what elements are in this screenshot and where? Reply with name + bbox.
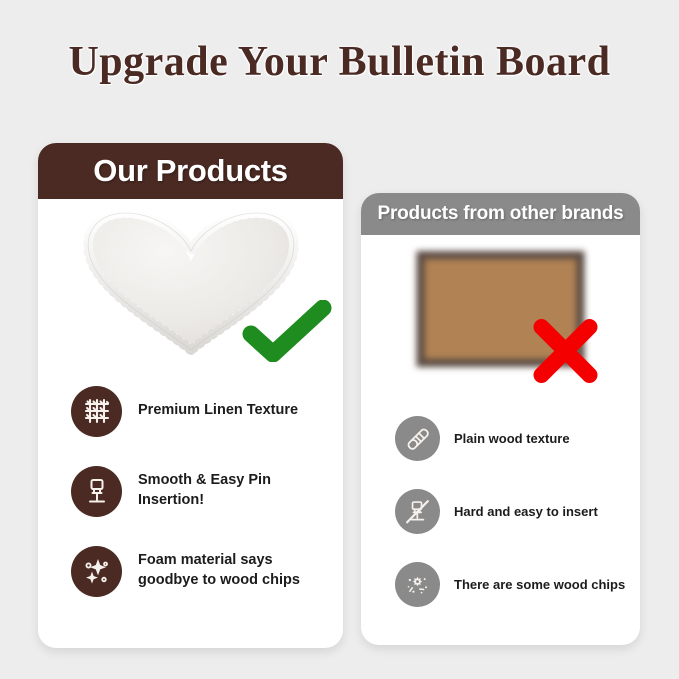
- other-brands-header-label: Products from other brands: [377, 203, 623, 225]
- other-brands-feature-list: Plain wood texture Hard and easy to inse…: [361, 402, 640, 621]
- list-item-label: Hard and easy to insert: [454, 503, 598, 521]
- our-product-image-area: [38, 199, 343, 354]
- wood-chips-icon: [395, 562, 440, 607]
- approved-check-badge: [241, 300, 335, 362]
- our-products-header-label: Our Products: [93, 153, 287, 189]
- check-icon: [241, 300, 335, 362]
- linen-weave-icon: [71, 386, 122, 437]
- list-item-label: There are some wood chips: [454, 576, 625, 594]
- other-brands-header: Products from other brands: [361, 193, 640, 235]
- rejected-x-badge: [525, 313, 605, 389]
- our-products-card: Our Products: [38, 143, 343, 648]
- list-item: Premium Linen Texture: [38, 371, 343, 451]
- page-title: Upgrade Your Bulletin Board: [0, 38, 679, 86]
- list-item: Plain wood texture: [361, 402, 640, 475]
- no-pushpin-icon: [395, 489, 440, 534]
- x-icon: [525, 313, 605, 389]
- list-item: Foam material says goodbye to wood chips: [38, 531, 343, 611]
- list-item: Hard and easy to insert: [361, 475, 640, 548]
- no-pushpin-glyph: [404, 498, 431, 525]
- linen-weave-glyph: [82, 396, 112, 426]
- sparkles-icon: [71, 546, 122, 597]
- list-item: There are some wood chips: [361, 548, 640, 621]
- our-products-header: Our Products: [38, 143, 343, 199]
- pushpin-icon: [71, 466, 122, 517]
- list-item-label: Foam material says goodbye to wood chips: [138, 551, 323, 590]
- list-item-label: Plain wood texture: [454, 430, 570, 448]
- wood-chips-glyph: [404, 571, 431, 598]
- wood-log-icon: [395, 416, 440, 461]
- list-item-label: Smooth & Easy Pin Insertion!: [138, 471, 323, 510]
- other-brands-card: Products from other brands: [361, 193, 640, 645]
- sparkles-glyph: [82, 556, 112, 586]
- cork-bulletin-board-image: [408, 245, 593, 375]
- our-products-feature-list: Premium Linen Texture Smooth & Easy Pin …: [38, 371, 343, 611]
- list-item-label: Premium Linen Texture: [138, 401, 298, 421]
- pushpin-glyph: [82, 476, 112, 506]
- other-brand-product-image-area: [361, 235, 640, 375]
- list-item: Smooth & Easy Pin Insertion!: [38, 451, 343, 531]
- wood-log-glyph: [404, 425, 431, 452]
